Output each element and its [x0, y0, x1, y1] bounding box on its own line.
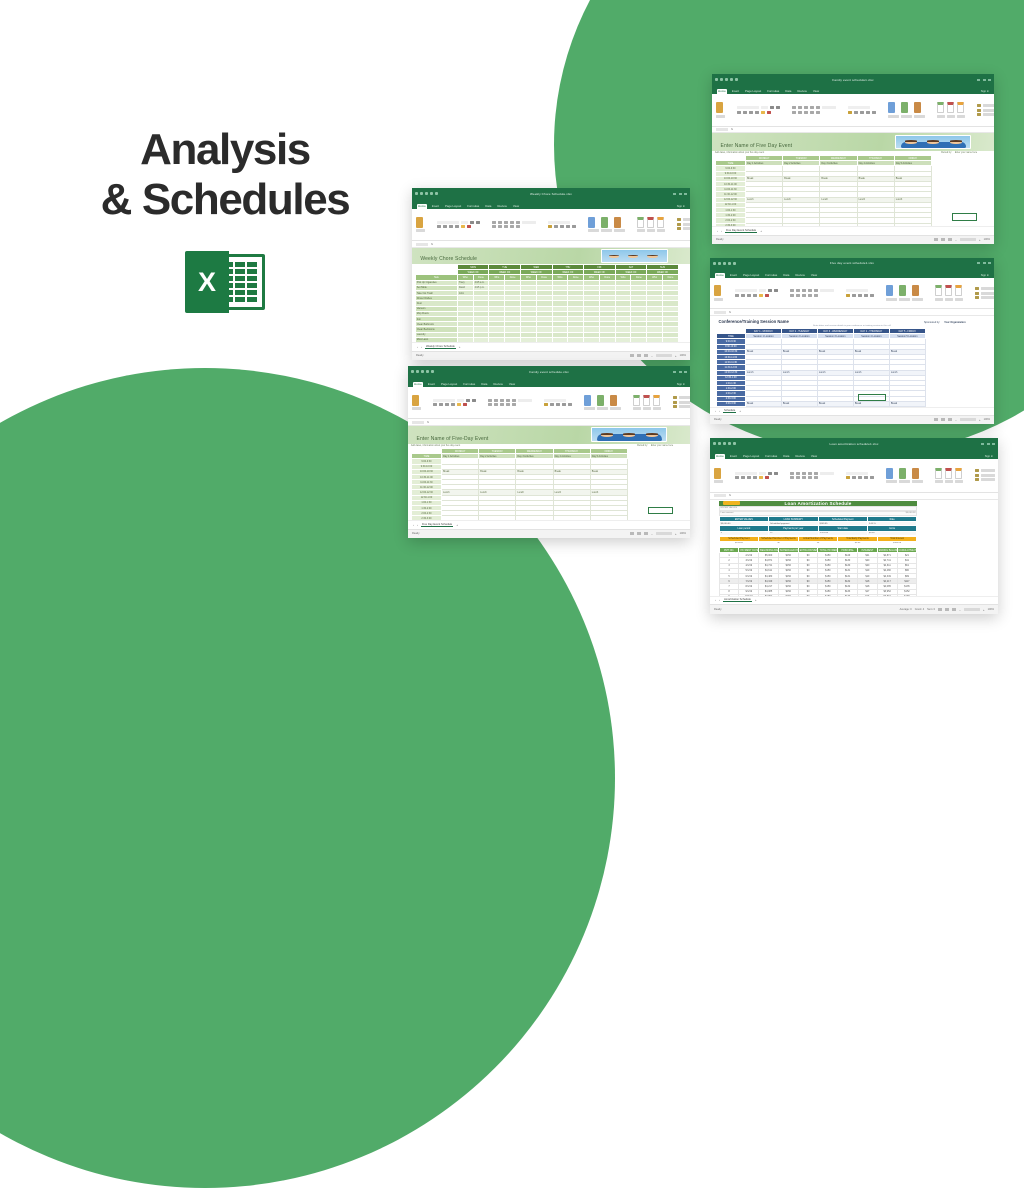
- zoom-out-button[interactable]: −: [955, 238, 957, 242]
- format-as-table-button[interactable]: [597, 395, 608, 411]
- align-icon-0[interactable]: [488, 399, 492, 402]
- increase-decimal-icon[interactable]: [866, 111, 870, 114]
- formula-input[interactable]: [432, 421, 686, 424]
- align-icon-1[interactable]: [796, 472, 800, 475]
- sheet-nav-prev[interactable]: ‹: [715, 409, 716, 413]
- chore-cell[interactable]: [536, 337, 552, 342]
- number-format-select[interactable]: [848, 106, 870, 109]
- decrease-decimal-icon[interactable]: [872, 111, 876, 114]
- decrease-decimal-icon[interactable]: [870, 476, 874, 479]
- currency-icon[interactable]: [848, 111, 852, 114]
- cell-styles-button[interactable]: [912, 468, 923, 484]
- number-style-row[interactable]: [848, 111, 876, 114]
- amort-cell[interactable]: $16: [857, 594, 877, 595]
- bold-icon[interactable]: [433, 403, 437, 406]
- number-format-select[interactable]: [846, 472, 868, 475]
- align-icon-3[interactable]: [510, 221, 514, 224]
- schedule-cell[interactable]: [783, 223, 820, 226]
- schedule-cell[interactable]: [590, 516, 627, 520]
- wrap-icon-1[interactable]: [498, 225, 502, 228]
- format-as-table-button[interactable]: [899, 285, 910, 301]
- align-icon-1[interactable]: [798, 106, 802, 109]
- wrap-icon-2[interactable]: [500, 403, 504, 406]
- wrap-icon-0[interactable]: [790, 476, 794, 479]
- font-name-row[interactable]: [437, 221, 480, 224]
- merge-center-button[interactable]: [820, 289, 834, 292]
- number-format-row[interactable]: [846, 472, 874, 475]
- font-name-row[interactable]: [433, 399, 476, 402]
- font-style-row[interactable]: [735, 294, 778, 297]
- align-icon-1[interactable]: [494, 399, 498, 402]
- conditional-formatting-button[interactable]: [588, 217, 599, 233]
- new-sheet-button[interactable]: +: [739, 409, 741, 413]
- zoom-slider[interactable]: [960, 238, 976, 241]
- sheet-tab-strip[interactable]: ‹›Weekly Chore Schedule+: [412, 342, 690, 351]
- zoom-slider[interactable]: [964, 608, 980, 611]
- align-icon-4[interactable]: [516, 221, 520, 224]
- formula-input[interactable]: [734, 494, 994, 497]
- title-bar[interactable]: Weekly Chore Schedule.xlsx: [412, 188, 690, 199]
- align-horizontal-row[interactable]: [790, 294, 834, 297]
- align-horizontal-row[interactable]: [488, 403, 532, 406]
- comma-icon[interactable]: [560, 225, 564, 228]
- clear-button[interactable]: [975, 296, 994, 299]
- italic-icon[interactable]: [443, 225, 447, 228]
- align-horizontal-row[interactable]: [792, 111, 836, 114]
- wrap-icon-1[interactable]: [494, 403, 498, 406]
- normal-view-button[interactable]: [630, 354, 634, 357]
- page-break-view-button[interactable]: [644, 532, 648, 535]
- align-icon-4[interactable]: [814, 289, 818, 292]
- sheet-nav-prev[interactable]: ‹: [417, 345, 418, 349]
- number-format-select[interactable]: [548, 221, 570, 224]
- number-style-row[interactable]: [846, 476, 874, 479]
- chore-cell[interactable]: [615, 337, 631, 342]
- align-vertical-row[interactable]: [790, 289, 834, 292]
- clear-button[interactable]: [673, 405, 690, 408]
- borders-icon[interactable]: [451, 403, 455, 406]
- percent-icon[interactable]: [550, 403, 554, 406]
- sheet-nav-next[interactable]: ›: [417, 523, 418, 527]
- sheet-tab[interactable]: Five Day Event Schedule: [725, 229, 757, 233]
- wrap-icon-2[interactable]: [802, 476, 806, 479]
- decrease-font-icon[interactable]: [774, 289, 778, 292]
- ribbon-tab-bar[interactable]: HomeInsertPage LayoutFormulasDataReviewV…: [412, 199, 690, 208]
- align-icon-0[interactable]: [790, 472, 794, 475]
- chore-cell[interactable]: [631, 337, 647, 342]
- wrap-icon-3[interactable]: [510, 225, 514, 228]
- conditional-formatting-button[interactable]: [888, 102, 899, 118]
- align-icon-2[interactable]: [504, 221, 508, 224]
- italic-icon[interactable]: [439, 403, 443, 406]
- fill-color-icon[interactable]: [759, 294, 763, 297]
- font-color-icon[interactable]: [467, 225, 471, 228]
- font-style-row[interactable]: [735, 476, 778, 479]
- amort-cell[interactable]: 10/1/19: [739, 594, 759, 595]
- name-box[interactable]: [412, 421, 424, 424]
- bold-icon[interactable]: [735, 476, 739, 479]
- sheet-tab-strip[interactable]: ‹›Five Day Event Schedule+: [712, 226, 994, 235]
- wrap-icon-4[interactable]: [814, 294, 818, 297]
- wrap-icon-0[interactable]: [488, 403, 492, 406]
- sheet-tab[interactable]: Amortization Schedule: [723, 598, 752, 602]
- align-vertical-row[interactable]: [492, 221, 536, 224]
- wrap-icon-2[interactable]: [504, 225, 508, 228]
- format-cells-button[interactable]: [653, 395, 661, 411]
- align-horizontal-row[interactable]: [790, 476, 834, 479]
- format-cells-button[interactable]: [955, 285, 963, 301]
- italic-icon[interactable]: [741, 294, 745, 297]
- page-layout-view-button[interactable]: [945, 608, 949, 611]
- schedule-cell[interactable]: [553, 516, 590, 520]
- paste-button[interactable]: [714, 468, 723, 479]
- currency-icon[interactable]: [846, 294, 850, 297]
- wrap-icon-0[interactable]: [792, 111, 796, 114]
- align-vertical-row[interactable]: [488, 399, 532, 402]
- autosum-button[interactable]: [673, 396, 690, 399]
- chore-cell[interactable]: [552, 337, 568, 342]
- schedule-cell[interactable]: [820, 223, 857, 226]
- borders-icon[interactable]: [455, 225, 459, 228]
- new-sheet-button[interactable]: +: [456, 523, 458, 527]
- worksheet-area[interactable]: Conference/Training Session NameSponsore…: [710, 316, 994, 407]
- title-bar[interactable]: Family event schedule1.xlsx: [712, 74, 994, 85]
- align-icon-2[interactable]: [804, 106, 808, 109]
- formula-bar[interactable]: fx: [712, 127, 994, 134]
- percent-icon[interactable]: [854, 111, 858, 114]
- align-icon-3[interactable]: [506, 399, 510, 402]
- fill-color-icon[interactable]: [761, 111, 765, 114]
- normal-view-button[interactable]: [934, 418, 938, 421]
- formula-bar[interactable]: fx: [408, 419, 690, 426]
- formula-input[interactable]: [736, 128, 990, 131]
- number-format-row[interactable]: [848, 106, 876, 109]
- sheet-nav-prev[interactable]: ‹: [413, 523, 414, 527]
- underline-icon[interactable]: [747, 476, 751, 479]
- wrap-icon-1[interactable]: [796, 476, 800, 479]
- comma-icon[interactable]: [556, 403, 560, 406]
- amort-cell[interactable]: $168: [897, 594, 917, 595]
- borders-icon[interactable]: [753, 294, 757, 297]
- zoom-out-button[interactable]: −: [959, 608, 961, 612]
- cell-styles-button[interactable]: [614, 217, 625, 233]
- sheet-nav-prev[interactable]: ‹: [715, 598, 716, 602]
- insert-cells-button[interactable]: [633, 395, 641, 411]
- increase-font-icon[interactable]: [470, 221, 474, 224]
- cell-styles-button[interactable]: [914, 102, 925, 118]
- zoom-in-button[interactable]: +: [979, 418, 981, 422]
- title-bar[interactable]: Five day event schedule1.xlsx: [710, 258, 994, 269]
- wrap-icon-2[interactable]: [804, 111, 808, 114]
- fill-button[interactable]: [677, 223, 690, 226]
- sheet-tab-strip[interactable]: ‹›Schedule+: [710, 407, 994, 415]
- conditional-formatting-button[interactable]: [886, 468, 897, 484]
- align-icon-1[interactable]: [498, 221, 502, 224]
- delete-cells-button[interactable]: [643, 395, 651, 411]
- chore-cell[interactable]: [584, 337, 600, 342]
- align-vertical-row[interactable]: [792, 106, 836, 109]
- align-icon-4[interactable]: [814, 472, 818, 475]
- status-right[interactable]: −+100%: [630, 354, 686, 358]
- excel-window-five-day-event-bottom[interactable]: Family event schedule.xlsxHomeInsertPage…: [408, 366, 690, 538]
- zoom-in-button[interactable]: +: [675, 532, 677, 536]
- zoom-slider[interactable]: [656, 532, 672, 535]
- number-style-row[interactable]: [846, 294, 874, 297]
- comma-icon[interactable]: [860, 111, 864, 114]
- formula-bar[interactable]: fx: [412, 241, 690, 248]
- sheet-nav-next[interactable]: ›: [721, 229, 722, 233]
- cell-styles-button[interactable]: [610, 395, 621, 411]
- ribbon-tab-bar[interactable]: HomeInsertPage LayoutFormulasDataReviewV…: [408, 377, 690, 386]
- page-layout-view-button[interactable]: [941, 238, 945, 241]
- sheet-nav-next[interactable]: ›: [421, 345, 422, 349]
- font-name-box[interactable]: [737, 106, 759, 109]
- worksheet-area[interactable]: Enter Name of Five-Day EventAdd dates, i…: [408, 426, 690, 520]
- formula-input[interactable]: [734, 311, 990, 314]
- italic-icon[interactable]: [743, 111, 747, 114]
- schedule-cell[interactable]: [746, 223, 783, 226]
- amort-cell[interactable]: $150: [778, 594, 798, 595]
- currency-icon[interactable]: [544, 403, 548, 406]
- chore-cell[interactable]: [568, 337, 584, 342]
- wrap-icon-0[interactable]: [492, 225, 496, 228]
- format-cells-button[interactable]: [957, 102, 965, 118]
- delete-cells-button[interactable]: [945, 468, 953, 484]
- autosum-button[interactable]: [977, 104, 994, 107]
- insert-cells-button[interactable]: [935, 285, 943, 301]
- page-break-view-button[interactable]: [948, 238, 952, 241]
- ribbon-tab-bar[interactable]: HomeInsertPage LayoutFormulasDataReviewV…: [712, 85, 994, 94]
- status-right[interactable]: Average: 0Count: 4Sum: 0−+100%: [900, 608, 994, 612]
- increase-decimal-icon[interactable]: [566, 225, 570, 228]
- wrap-icon-1[interactable]: [798, 111, 802, 114]
- number-format-row[interactable]: [544, 399, 572, 402]
- insert-cells-button[interactable]: [937, 102, 945, 118]
- schedule-cell[interactable]: [479, 516, 516, 520]
- page-layout-view-button[interactable]: [941, 418, 945, 421]
- wrap-icon-4[interactable]: [816, 111, 820, 114]
- increase-decimal-icon[interactable]: [562, 403, 566, 406]
- merge-center-button[interactable]: [518, 399, 532, 402]
- status-bar[interactable]: Ready−+100%: [710, 415, 994, 424]
- wrap-icon-4[interactable]: [512, 403, 516, 406]
- title-bar[interactable]: Family event schedule.xlsx: [408, 366, 690, 377]
- status-bar[interactable]: ReadyAverage: 0Count: 4Sum: 0−+100%: [710, 604, 998, 614]
- font-color-icon[interactable]: [463, 403, 467, 406]
- number-style-row[interactable]: [548, 225, 576, 228]
- formula-bar[interactable]: fx: [710, 493, 998, 500]
- decrease-decimal-icon[interactable]: [572, 225, 576, 228]
- font-name-box[interactable]: [437, 221, 459, 224]
- percent-icon[interactable]: [852, 294, 856, 297]
- font-name-box[interactable]: [735, 289, 757, 292]
- percent-icon[interactable]: [852, 476, 856, 479]
- underline-icon[interactable]: [747, 294, 751, 297]
- merge-center-button[interactable]: [522, 221, 536, 224]
- wrap-icon-4[interactable]: [814, 476, 818, 479]
- borders-icon[interactable]: [755, 111, 759, 114]
- autosum-button[interactable]: [975, 469, 995, 472]
- font-name-box[interactable]: [433, 399, 455, 402]
- insert-cells-button[interactable]: [935, 468, 943, 484]
- italic-icon[interactable]: [741, 476, 745, 479]
- font-color-icon[interactable]: [765, 294, 769, 297]
- fill-button[interactable]: [975, 292, 994, 295]
- formula-input[interactable]: [436, 243, 686, 246]
- chore-cell[interactable]: [599, 337, 615, 342]
- schedule-cell[interactable]: [894, 223, 931, 226]
- align-icon-3[interactable]: [810, 106, 814, 109]
- font-size-box[interactable]: [759, 289, 766, 292]
- comma-icon[interactable]: [858, 294, 862, 297]
- normal-view-button[interactable]: [938, 608, 942, 611]
- align-icon-3[interactable]: [808, 472, 812, 475]
- decrease-font-icon[interactable]: [776, 106, 780, 109]
- underline-icon[interactable]: [449, 225, 453, 228]
- chore-cell[interactable]: [663, 337, 679, 342]
- paste-button[interactable]: [716, 102, 725, 113]
- new-sheet-button[interactable]: +: [760, 229, 762, 233]
- format-as-table-button[interactable]: [899, 468, 910, 484]
- align-icon-0[interactable]: [492, 221, 496, 224]
- number-format-row[interactable]: [548, 221, 576, 224]
- align-icon-4[interactable]: [512, 399, 516, 402]
- name-box[interactable]: [416, 243, 428, 246]
- font-color-icon[interactable]: [767, 111, 771, 114]
- merge-center-button[interactable]: [820, 472, 834, 475]
- schedule-cell[interactable]: [442, 516, 479, 520]
- currency-icon[interactable]: [548, 225, 552, 228]
- zoom-out-button[interactable]: −: [651, 532, 653, 536]
- schedule-cell[interactable]: [857, 223, 894, 226]
- font-name-row[interactable]: [737, 106, 780, 109]
- delete-cells-button[interactable]: [647, 217, 655, 233]
- formula-bar[interactable]: fx: [710, 309, 994, 316]
- wrap-icon-3[interactable]: [808, 294, 812, 297]
- excel-window-conference-training-schedule[interactable]: Five day event schedule1.xlsxHomeInsertP…: [710, 258, 994, 424]
- zoom-in-button[interactable]: +: [979, 238, 981, 242]
- table-row[interactable]: 910/1/19$3,952$150$0$150$133$16$3,819$16…: [719, 594, 917, 595]
- number-format-row[interactable]: [846, 289, 874, 292]
- increase-font-icon[interactable]: [768, 289, 772, 292]
- fill-button[interactable]: [673, 401, 690, 404]
- zoom-slider[interactable]: [960, 418, 976, 421]
- borders-icon[interactable]: [753, 476, 757, 479]
- new-sheet-button[interactable]: +: [459, 345, 461, 349]
- comma-icon[interactable]: [858, 476, 862, 479]
- worksheet-area[interactable]: Enter Name of Five Day EventAdd dates, i…: [712, 133, 994, 226]
- align-icon-4[interactable]: [816, 106, 820, 109]
- bold-icon[interactable]: [737, 111, 741, 114]
- underline-icon[interactable]: [445, 403, 449, 406]
- decrease-font-icon[interactable]: [476, 221, 480, 224]
- status-right[interactable]: −+100%: [934, 238, 990, 242]
- number-format-select[interactable]: [846, 289, 868, 292]
- insert-cells-button[interactable]: [637, 217, 645, 233]
- increase-font-icon[interactable]: [770, 106, 774, 109]
- delete-cells-button[interactable]: [945, 285, 953, 301]
- sheet-tab-strip[interactable]: ‹›Five Day Event Schedule+: [408, 520, 690, 529]
- increase-font-icon[interactable]: [768, 472, 772, 475]
- chore-cell[interactable]: [520, 337, 536, 342]
- paste-button[interactable]: [714, 285, 723, 296]
- ribbon-tab-bar[interactable]: HomeInsertPage LayoutFormulasDataReviewV…: [710, 449, 998, 459]
- amort-cell[interactable]: $3,819: [877, 594, 897, 595]
- table-row[interactable]: 2:30-3:00: [411, 516, 627, 520]
- worksheet-area[interactable]: Loan Amortization ScheduleENTER VALUESLo…: [710, 500, 998, 596]
- clear-button[interactable]: [975, 478, 995, 481]
- paste-button[interactable]: [416, 217, 425, 228]
- align-icon-2[interactable]: [802, 472, 806, 475]
- clear-button[interactable]: [977, 113, 994, 116]
- number-style-row[interactable]: [544, 403, 572, 406]
- font-size-box[interactable]: [457, 399, 464, 402]
- autosum-button[interactable]: [975, 287, 994, 290]
- wrap-icon-4[interactable]: [516, 225, 520, 228]
- paste-button[interactable]: [412, 395, 421, 406]
- align-icon-0[interactable]: [790, 289, 794, 292]
- status-bar[interactable]: Ready−+100%: [712, 235, 994, 244]
- format-as-table-button[interactable]: [601, 217, 612, 233]
- font-size-box[interactable]: [461, 221, 468, 224]
- underline-icon[interactable]: [749, 111, 753, 114]
- number-format-select[interactable]: [544, 399, 566, 402]
- name-box[interactable]: [716, 128, 728, 131]
- clear-button[interactable]: [677, 227, 690, 230]
- zoom-in-button[interactable]: +: [983, 608, 985, 612]
- font-color-icon[interactable]: [765, 476, 769, 479]
- status-bar[interactable]: Ready−+100%: [412, 351, 690, 360]
- font-size-box[interactable]: [761, 106, 768, 109]
- chore-cell[interactable]: [489, 337, 505, 342]
- zoom-out-button[interactable]: −: [955, 418, 957, 422]
- wrap-icon-0[interactable]: [790, 294, 794, 297]
- sheet-tab[interactable]: Schedule: [723, 409, 736, 413]
- bold-icon[interactable]: [437, 225, 441, 228]
- sheet-nav-next[interactable]: ›: [719, 409, 720, 413]
- merge-center-button[interactable]: [822, 106, 836, 109]
- font-style-row[interactable]: [737, 111, 780, 114]
- schedule-cell[interactable]: [516, 516, 553, 520]
- fill-color-icon[interactable]: [759, 476, 763, 479]
- fill-button[interactable]: [977, 109, 994, 112]
- page-break-view-button[interactable]: [952, 608, 956, 611]
- new-sheet-button[interactable]: +: [755, 598, 757, 602]
- align-icon-0[interactable]: [792, 106, 796, 109]
- format-cells-button[interactable]: [657, 217, 665, 233]
- normal-view-button[interactable]: [630, 532, 634, 535]
- sheet-tab[interactable]: Weekly Chore Schedule: [425, 345, 456, 349]
- font-size-box[interactable]: [759, 472, 766, 475]
- wrap-icon-2[interactable]: [802, 294, 806, 297]
- sheet-nav-next[interactable]: ›: [719, 598, 720, 602]
- sheet-tab[interactable]: Five Day Event Schedule: [421, 523, 453, 527]
- font-name-row[interactable]: [735, 472, 778, 475]
- wrap-icon-3[interactable]: [810, 111, 814, 114]
- excel-window-weekly-chore-schedule[interactable]: Weekly Chore Schedule.xlsxHomeInsertPage…: [412, 188, 690, 360]
- decrease-decimal-icon[interactable]: [568, 403, 572, 406]
- worksheet-area[interactable]: Weekly Chore ScheduleMONTUEWEDTHUFRISATS…: [412, 248, 690, 342]
- chore-cell[interactable]: [505, 337, 521, 342]
- conditional-formatting-button[interactable]: [886, 285, 897, 301]
- page-layout-view-button[interactable]: [637, 532, 641, 535]
- align-icon-2[interactable]: [802, 289, 806, 292]
- amort-cell[interactable]: $3,952: [759, 594, 779, 595]
- format-as-table-button[interactable]: [901, 102, 912, 118]
- name-box[interactable]: [714, 494, 726, 497]
- wrap-icon-3[interactable]: [808, 476, 812, 479]
- normal-view-button[interactable]: [934, 238, 938, 241]
